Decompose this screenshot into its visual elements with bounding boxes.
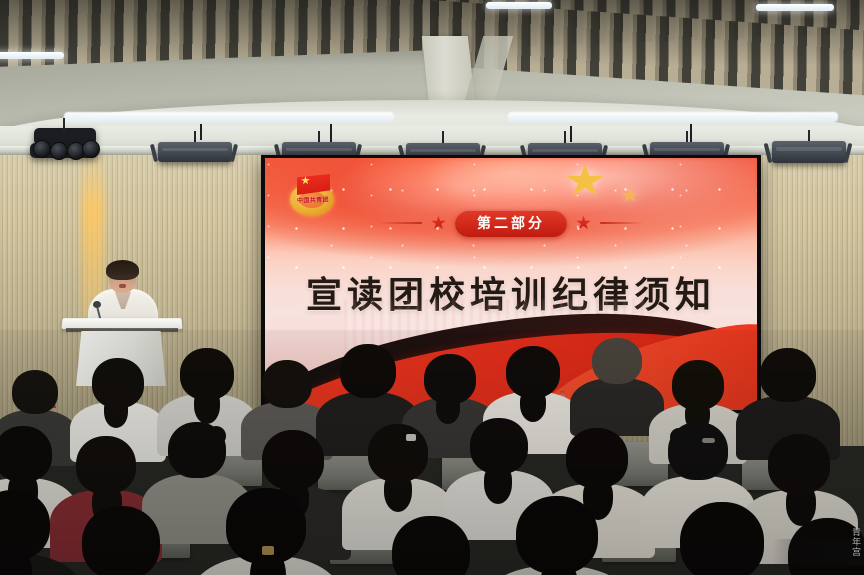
- person-head: [262, 360, 312, 408]
- badge-star-left-icon: [431, 216, 446, 231]
- person-ponytail: [194, 388, 220, 424]
- badge-line-right: [600, 222, 644, 224]
- person-hair-clip: [406, 434, 416, 441]
- light-hanger: [564, 131, 566, 143]
- person-head: [680, 502, 764, 575]
- person-ponytail: [484, 464, 512, 504]
- person-ponytail: [104, 396, 128, 428]
- person-ponytail: [384, 472, 412, 512]
- person-head: [392, 516, 470, 575]
- section-badge-row: 第二部分: [265, 210, 757, 236]
- light-cable: [570, 126, 594, 142]
- emblem-label: 中国共青团: [296, 195, 330, 206]
- cove-light-strip: [508, 112, 838, 122]
- person-glasses-icon: [702, 438, 715, 443]
- section-badge-label: 第二部分: [455, 210, 567, 237]
- person-ponytail: [520, 388, 546, 422]
- auditorium-scene: 中国共青团 第二部分 宣读团校培训纪律须知: [0, 0, 864, 575]
- stage-light-fixture: [158, 142, 232, 162]
- light-cable: [330, 124, 358, 142]
- stage-light-fixture: [772, 141, 846, 163]
- person-head: [760, 348, 816, 402]
- light-cable: [690, 124, 718, 142]
- person-hair-bun: [206, 426, 226, 446]
- par-can: [50, 142, 68, 160]
- par-can: [82, 140, 100, 158]
- ceiling-lamp-tube: [486, 2, 552, 9]
- light-hanger: [442, 131, 444, 143]
- par-can: [33, 140, 51, 158]
- ceiling-lamp-tube: [0, 52, 64, 59]
- person-ponytail: [436, 394, 460, 424]
- person-hair-bun: [670, 428, 688, 446]
- light-cable: [200, 124, 226, 140]
- person-head: [12, 370, 58, 414]
- ceiling: [0, 0, 864, 150]
- ceiling-lamp-tube: [756, 4, 834, 11]
- par-cluster-hanger: [63, 118, 65, 130]
- person-head: [340, 344, 396, 398]
- seated-audience: [0, 330, 864, 575]
- badge-star-right-icon: [576, 216, 591, 231]
- person-head: [592, 338, 642, 384]
- gold-star-icon: [565, 164, 605, 198]
- person-head: [82, 506, 160, 575]
- badge-line-left: [378, 222, 422, 224]
- speaker-glasses-icon: [111, 276, 134, 282]
- cove-light-strip: [64, 112, 394, 122]
- gold-star-icon: [621, 188, 639, 203]
- banner-watermark: 青年宫: [849, 527, 862, 557]
- speaker-mouth: [119, 284, 126, 288]
- podium-microphone: [93, 301, 101, 308]
- person-hair-tie: [262, 546, 274, 555]
